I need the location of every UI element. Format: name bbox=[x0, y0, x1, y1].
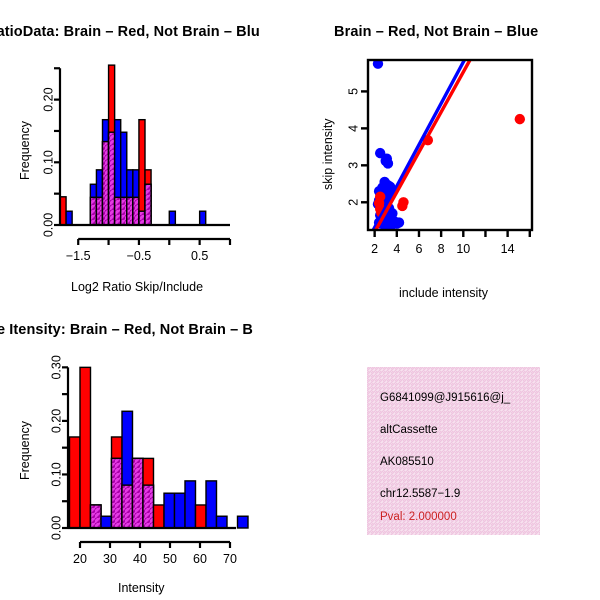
panel-scatter-title: Brain – Red, Not Brain – Blue bbox=[334, 24, 538, 40]
svg-text:14: 14 bbox=[501, 242, 515, 256]
svg-text:20: 20 bbox=[73, 552, 87, 566]
svg-text:−1.5: −1.5 bbox=[66, 249, 91, 263]
svg-text:5: 5 bbox=[346, 88, 360, 95]
ratio-xlabel: Log2 Ratio Skip/Include bbox=[71, 280, 203, 294]
svg-text:2: 2 bbox=[371, 242, 378, 256]
panel-intensity-scatter: Brain – Red, Not Brain – Blue 2345246810… bbox=[300, 0, 600, 310]
svg-text:0.20: 0.20 bbox=[49, 409, 63, 433]
svg-text:30: 30 bbox=[103, 552, 117, 566]
panel-ratio-title: RatioData: Brain – Red, Not Brain – Blu bbox=[0, 24, 260, 40]
svg-text:40: 40 bbox=[133, 552, 147, 566]
svg-text:60: 60 bbox=[193, 552, 207, 566]
svg-text:6: 6 bbox=[415, 242, 422, 256]
svg-text:3: 3 bbox=[346, 162, 360, 169]
svg-text:50: 50 bbox=[163, 552, 177, 566]
panel-ratio-histogram: RatioData: Brain – Red, Not Brain – Blu … bbox=[0, 0, 300, 310]
panel-gene-intensity-histogram: ne Itensity: Brain – Red, Not Brain – B … bbox=[0, 300, 300, 600]
svg-text:8: 8 bbox=[438, 242, 445, 256]
info-box: G6841099@J915616@j_ altCassette AK085510… bbox=[367, 367, 540, 535]
ratio-ylabel: Frequency bbox=[18, 121, 32, 180]
svg-text:10: 10 bbox=[456, 242, 470, 256]
svg-text:0.10: 0.10 bbox=[49, 462, 63, 486]
svg-text:4: 4 bbox=[346, 125, 360, 132]
intensity-scatter-plot: 234524681014 bbox=[300, 50, 600, 300]
scatter-xlabel: include intensity bbox=[399, 286, 488, 300]
svg-text:−0.5: −0.5 bbox=[127, 249, 152, 263]
svg-text:0.00: 0.00 bbox=[41, 213, 55, 237]
svg-text:70: 70 bbox=[223, 552, 237, 566]
ratio-histogram-plot: 0.000.100.20−1.5−0.50.5 bbox=[0, 50, 300, 300]
svg-text:0.5: 0.5 bbox=[191, 249, 208, 263]
svg-text:0.30: 0.30 bbox=[49, 355, 63, 379]
gene-intensity-plot: 0.000.100.200.30203040506070 bbox=[0, 348, 300, 598]
info-line-pval: Pval: 2.000000 bbox=[380, 511, 457, 523]
panel-gene-title: ne Itensity: Brain – Red, Not Brain – B bbox=[0, 322, 253, 338]
svg-text:0.10: 0.10 bbox=[41, 150, 55, 174]
svg-text:2: 2 bbox=[346, 199, 360, 206]
svg-text:0.00: 0.00 bbox=[49, 516, 63, 540]
svg-text:0.20: 0.20 bbox=[41, 87, 55, 111]
info-line-accession: AK085510 bbox=[380, 456, 434, 468]
info-line-locus: chr12.5587−1.9 bbox=[380, 488, 460, 500]
gene-ylabel: Frequency bbox=[18, 421, 32, 480]
info-line-event-type: altCassette bbox=[380, 424, 438, 436]
info-line-gene-id: G6841099@J915616@j_ bbox=[380, 392, 510, 404]
gene-xlabel: Intensity bbox=[118, 581, 165, 595]
svg-text:4: 4 bbox=[393, 242, 400, 256]
scatter-ylabel: skip intensity bbox=[321, 118, 335, 190]
